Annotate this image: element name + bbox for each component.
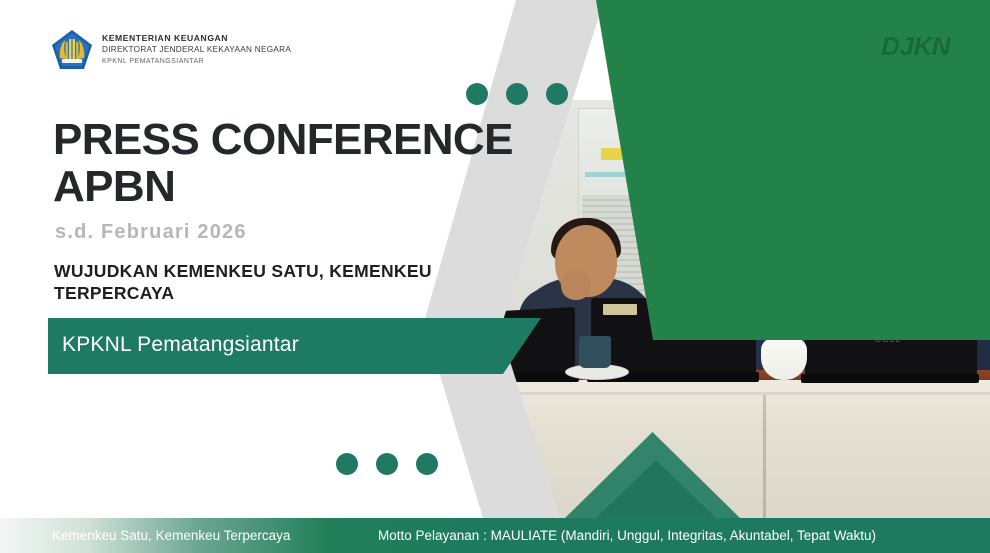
logo-line-2: DIREKTORAT JENDERAL KEKAYAAN NEGARA — [102, 44, 291, 56]
person-man-hand — [561, 270, 591, 300]
ac-strip — [585, 172, 625, 177]
office-banner: KPKNL Pematangsiantar — [48, 318, 541, 374]
footer-slogan: Kemenkeu Satu, Kemenkeu Terpercaya — [52, 528, 290, 543]
period-label: s.d. Februari 2026 — [55, 221, 247, 244]
three-dots-icon — [336, 453, 438, 475]
office-name: KPKNL Pematangsiantar — [62, 333, 299, 357]
djkn-wordmark: DJKN — [881, 31, 950, 62]
tagline: WUJUDKAN KEMENKEU SATU, KEMENKEU TERPERC… — [54, 260, 524, 304]
poster-canvas: DELL DELL — [0, 0, 990, 553]
flower-vase — [761, 338, 807, 380]
three-dots-icon — [466, 83, 568, 105]
footer-motto: Motto Pelayanan : MAULIATE (Mandiri, Ung… — [378, 528, 876, 543]
table-seam — [763, 395, 766, 518]
page-title: PRESS CONFERENCE APBN — [53, 116, 573, 210]
coffee-cup — [579, 336, 611, 368]
laptop-base — [801, 374, 979, 383]
logo-line-1: KEMENTERIAN KEUANGAN — [102, 32, 291, 44]
table-edge-line — [483, 392, 990, 395]
table-front — [483, 380, 990, 518]
laptop-sticker — [603, 304, 637, 315]
logo-line-3: KPKNL PEMATANGSIANTAR — [102, 56, 291, 68]
kemenkeu-logo: KEMENTERIAN KEUANGAN DIREKTORAT JENDERAL… — [50, 28, 291, 72]
logo-text-block: KEMENTERIAN KEUANGAN DIREKTORAT JENDERAL… — [102, 28, 291, 68]
footer-bar: Kemenkeu Satu, Kemenkeu Terpercaya Motto… — [0, 518, 990, 553]
kemenkeu-emblem-icon — [50, 28, 94, 72]
